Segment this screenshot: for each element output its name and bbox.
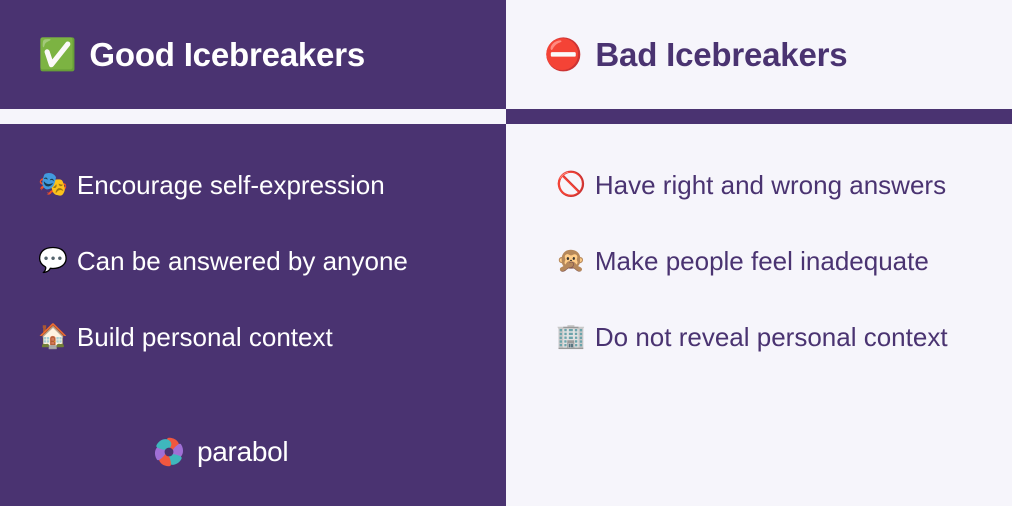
list-item-label: Make people feel inadequate <box>595 246 929 277</box>
list-item-label: Encourage self-expression <box>77 170 385 201</box>
good-icebreakers-list: 🎭 Encourage self-expression 💬 Can be ans… <box>0 124 506 398</box>
good-icebreakers-heading: ✅ Good Icebreakers <box>0 0 506 109</box>
icebreakers-comparison-graphic: ✅ Good Icebreakers 🎭 Encourage self-expr… <box>0 0 1012 506</box>
list-item: 🚫 Have right and wrong answers <box>556 170 1012 200</box>
office-building-icon: 🏢 <box>556 325 586 349</box>
list-item: 💬 Can be answered by anyone <box>38 246 506 276</box>
bad-icebreakers-list: 🚫 Have right and wrong answers 🙊 Make pe… <box>506 124 1012 398</box>
speak-no-evil-monkey-icon: 🙊 <box>556 249 586 273</box>
performing-arts-icon: 🎭 <box>38 173 68 197</box>
good-column-divider-band <box>0 109 506 124</box>
bad-column-divider-band <box>506 109 1012 124</box>
parabol-wordmark: parabol <box>197 438 288 466</box>
bad-icebreakers-column: ⛔ Bad Icebreakers 🚫 Have right and wrong… <box>506 0 1012 506</box>
parabol-logo: parabol <box>152 435 288 469</box>
good-icebreakers-heading-text: Good Icebreakers <box>89 36 365 74</box>
list-item-label: Have right and wrong answers <box>595 170 946 201</box>
bad-icebreakers-heading: ⛔ Bad Icebreakers <box>506 0 1012 109</box>
list-item-label: Build personal context <box>77 322 333 353</box>
bad-icebreakers-heading-text: Bad Icebreakers <box>595 36 847 74</box>
parabol-logo-mark-icon <box>152 435 186 469</box>
house-icon: 🏠 <box>38 325 68 349</box>
list-item: 🏠 Build personal context <box>38 322 506 352</box>
speech-balloon-icon: 💬 <box>38 249 68 273</box>
check-mark-button-icon: ✅ <box>38 39 76 70</box>
list-item: 🎭 Encourage self-expression <box>38 170 506 200</box>
list-item: 🏢 Do not reveal personal context <box>556 322 1012 352</box>
list-item-label: Can be answered by anyone <box>77 246 408 277</box>
prohibited-icon: 🚫 <box>556 173 586 197</box>
list-item-label: Do not reveal personal context <box>595 322 948 353</box>
list-item: 🙊 Make people feel inadequate <box>556 246 1012 276</box>
good-icebreakers-column: ✅ Good Icebreakers 🎭 Encourage self-expr… <box>0 0 506 506</box>
no-entry-icon: ⛔ <box>544 39 582 70</box>
